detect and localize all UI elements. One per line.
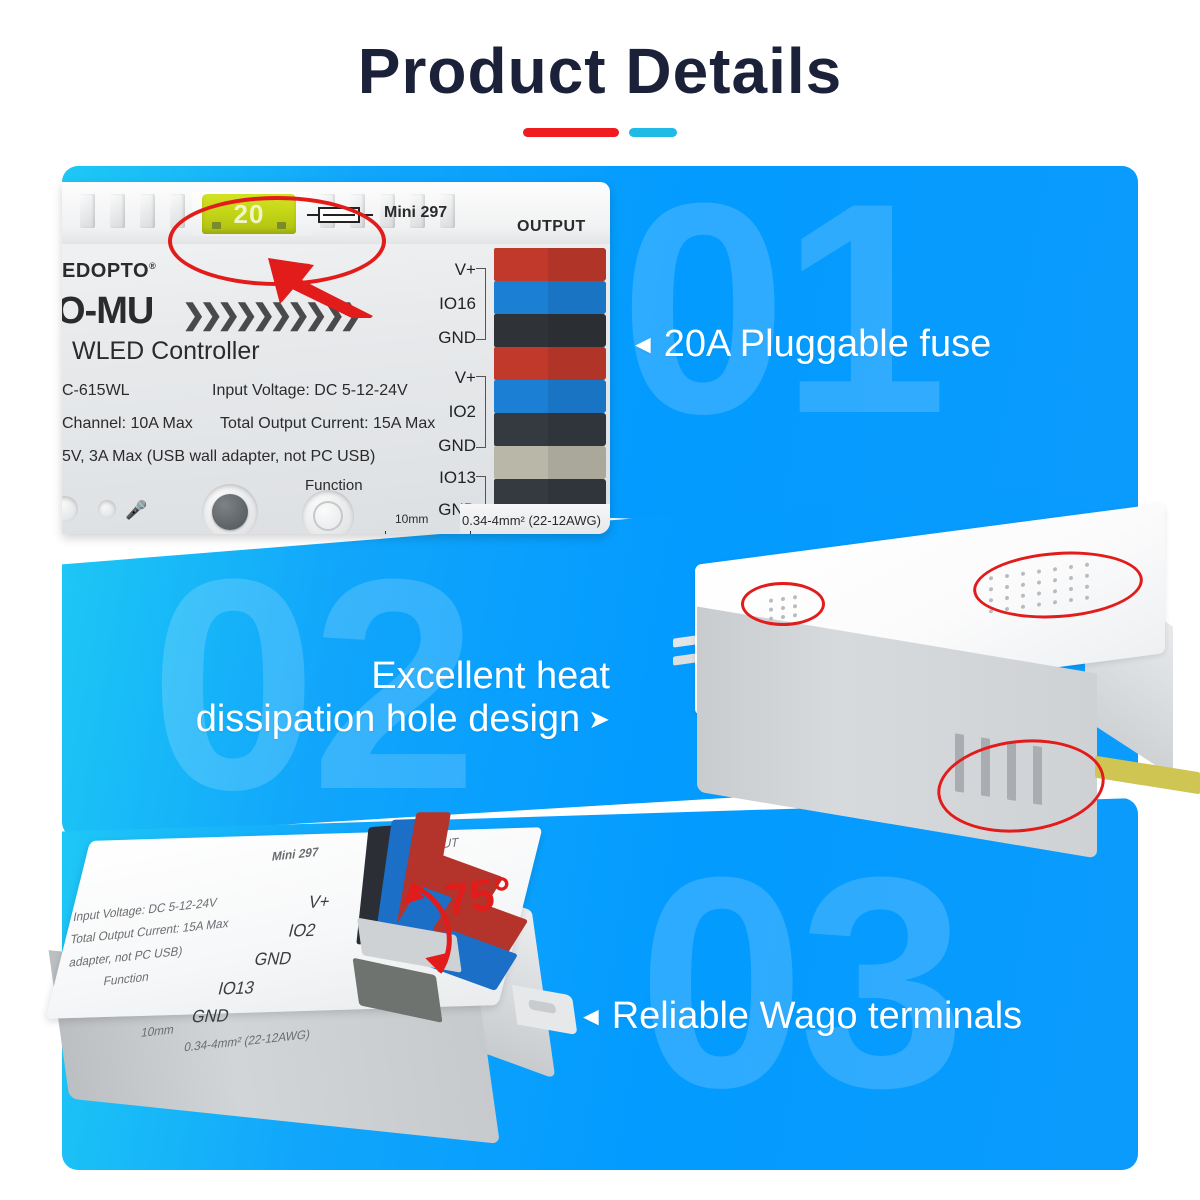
scale-label: 10mm	[395, 512, 428, 526]
vent-slot-icon	[140, 194, 155, 228]
underline-red	[523, 128, 619, 137]
dev3-label-io2: IO2	[286, 920, 318, 942]
terminal-lever[interactable]	[494, 380, 606, 413]
terminal-lever[interactable]	[494, 248, 606, 281]
io-label-io13: IO13	[406, 468, 476, 488]
io-label-io16: IO16	[406, 294, 476, 314]
vent-slot-icon	[110, 194, 125, 228]
callout-2-line1: Excellent heat	[130, 655, 610, 698]
angle-label: 75°	[442, 868, 515, 927]
spec-total-current: Total Output Current: 15A Max	[220, 415, 435, 433]
brand-text: EDOPTO	[62, 260, 149, 282]
callout-3-text: Reliable Wago terminals	[612, 995, 1022, 1037]
io-label-vplus-1: V+	[406, 260, 476, 280]
callout-3-arrow-icon: ◄	[578, 1001, 604, 1032]
io-bracket-1	[476, 268, 486, 340]
callout-1-text: 20A Pluggable fuse	[664, 323, 992, 365]
spec-sku: C-615WL	[62, 382, 130, 400]
vent-slot-icon	[80, 194, 95, 228]
callout-3: ◄Reliable Wago terminals	[578, 995, 1022, 1038]
model-label: O-MU	[62, 290, 153, 333]
reset-button[interactable]	[212, 494, 248, 530]
fuse-model-label: Mini 297	[384, 204, 447, 222]
terminal-lever[interactable]	[494, 281, 606, 314]
microphone-icon: 🎤	[125, 500, 147, 521]
fuse-pointer-arrow-icon	[268, 258, 373, 318]
callout-2: Excellent heat dissipation hole design➤	[130, 655, 610, 741]
wire-gauge-label: 0.34-4mm² (22-12AWG)	[462, 513, 601, 528]
spec-input-voltage: Input Voltage: DC 5-12-24V	[212, 382, 408, 400]
page-title: Product Details	[0, 34, 1200, 108]
spec-usb-note: 5V, 3A Max (USB wall adapter, not PC USB…	[62, 448, 375, 466]
dev3-label-io13: IO13	[216, 978, 257, 1000]
brand-label: EDOPTO®	[62, 260, 156, 283]
vent-highlight-ellipse	[741, 582, 825, 626]
callout-1: ◄20A Pluggable fuse	[630, 323, 991, 366]
callout-2-line2: dissipation hole design	[196, 698, 581, 740]
spec-per-channel: Channel: 10A Max	[62, 415, 193, 433]
mic-hole	[98, 500, 116, 518]
function-button[interactable]	[313, 501, 343, 531]
product-subtitle: WLED Controller	[72, 337, 260, 366]
output-terminal-block	[494, 248, 610, 512]
dev3-label-gnd-a: GND	[252, 948, 294, 970]
io-bracket-2	[476, 376, 486, 448]
io-label-io2: IO2	[406, 402, 476, 422]
registered-mark: ®	[149, 261, 156, 271]
io-label-gnd-2: GND	[406, 436, 476, 456]
callout-1-arrow-icon: ◄	[630, 329, 656, 360]
dev3-label-gnd-b: GND	[189, 1006, 231, 1028]
terminal-lever[interactable]	[494, 347, 606, 380]
callout-2-arrow-icon: ➤	[588, 704, 610, 735]
terminal-lever[interactable]	[494, 413, 606, 446]
io-label-gnd-1: GND	[406, 328, 476, 348]
product-details-page: Product Details 01 02 03 20	[0, 0, 1200, 1200]
title-underline-group	[0, 124, 1200, 142]
io-label-vplus-2: V+	[406, 368, 476, 388]
yellow-sticker	[1095, 756, 1200, 795]
terminal-lever[interactable]	[494, 446, 606, 479]
output-section-label: OUTPUT	[517, 218, 586, 236]
terminal-lever[interactable]	[494, 314, 606, 347]
underline-cyan	[629, 128, 677, 137]
controller-housing-photo	[655, 512, 1185, 852]
port-hole	[62, 496, 78, 522]
scale-bar-icon	[385, 531, 471, 534]
